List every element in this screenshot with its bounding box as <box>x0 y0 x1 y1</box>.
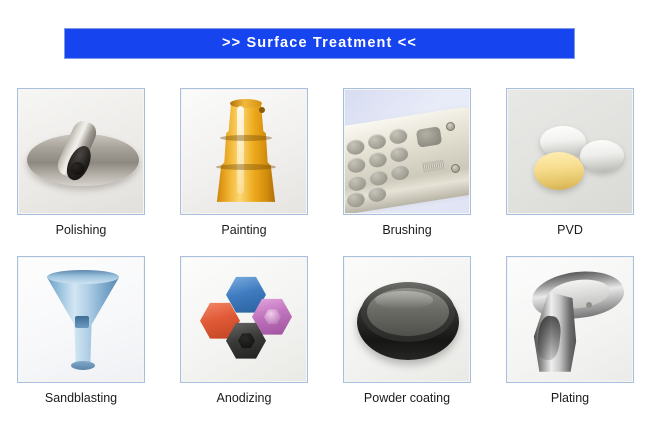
pvd-coated-discs-photo <box>508 90 632 213</box>
lid-gloss-highlight <box>375 291 433 309</box>
gloss-highlight <box>237 106 244 194</box>
polished-chrome-disc-photo <box>19 90 143 213</box>
funnel-badge <box>75 316 89 328</box>
gallery-item-powder-coating[interactable]: Powder coating <box>343 256 471 406</box>
anodized-colored-hex-caps-photo <box>182 258 306 381</box>
surface-treatment-gallery: Polishing Painting <box>17 88 633 406</box>
gallery-item-polishing[interactable]: Polishing <box>17 88 145 238</box>
gallery-item-label: Sandblasting <box>45 392 117 406</box>
gallery-item-label: Anodizing <box>217 392 272 406</box>
chrome-plated-handle-photo <box>508 258 632 381</box>
gallery-item-label: PVD <box>557 224 583 238</box>
gallery-item-sandblasting[interactable]: Sandblasting <box>17 256 145 406</box>
cone-body-shape <box>215 102 277 206</box>
handle-stud <box>586 302 592 308</box>
screw-lower <box>451 164 460 173</box>
gallery-item-pvd[interactable]: PVD <box>506 88 634 238</box>
gallery-item-label: Painting <box>221 224 266 238</box>
display-window-cutout <box>416 126 443 148</box>
white-disc-right <box>580 140 624 172</box>
funnel-base <box>71 361 95 370</box>
gallery-item-label: Polishing <box>56 224 107 238</box>
gallery-item-plating[interactable]: Plating <box>506 256 634 406</box>
gallery-item-label: Plating <box>551 392 589 406</box>
surface-treatment-banner: >> Surface Treatment << <box>64 28 575 59</box>
thumbnail-frame-sandblasting[interactable] <box>17 256 145 383</box>
gallery-item-painting[interactable]: Painting <box>180 88 308 238</box>
banner-title: >> Surface Treatment << <box>222 36 417 51</box>
thumbnail-frame-powder-coating[interactable] <box>343 256 471 383</box>
cone-top-ellipse <box>230 99 262 108</box>
gold-disc-front <box>534 152 584 190</box>
thumbnail-frame-plating[interactable] <box>506 256 634 383</box>
thumbnail-frame-brushing[interactable] <box>343 88 471 215</box>
powder-coated-black-lid-photo <box>345 258 469 381</box>
sandblasted-blue-funnel-photo <box>19 258 143 381</box>
side-hole <box>259 107 265 113</box>
brushed-metal-keypad-panel-photo <box>345 90 469 213</box>
thumbnail-frame-pvd[interactable] <box>506 88 634 215</box>
gallery-item-label: Brushing <box>382 224 431 238</box>
gallery-item-anodizing[interactable]: Anodizing <box>180 256 308 406</box>
yellow-painted-stepped-cone-photo <box>182 90 306 213</box>
funnel-lip <box>47 270 119 284</box>
gallery-item-brushing[interactable]: Brushing <box>343 88 471 238</box>
step-ring-upper <box>220 135 272 141</box>
bore-highlight <box>71 162 84 175</box>
step-ring-lower <box>216 164 276 170</box>
screw-upper <box>446 122 455 131</box>
gallery-item-label: Powder coating <box>364 392 450 406</box>
thumbnail-frame-painting[interactable] <box>180 88 308 215</box>
thumbnail-frame-polishing[interactable] <box>17 88 145 215</box>
thumbnail-frame-anodizing[interactable] <box>180 256 308 383</box>
